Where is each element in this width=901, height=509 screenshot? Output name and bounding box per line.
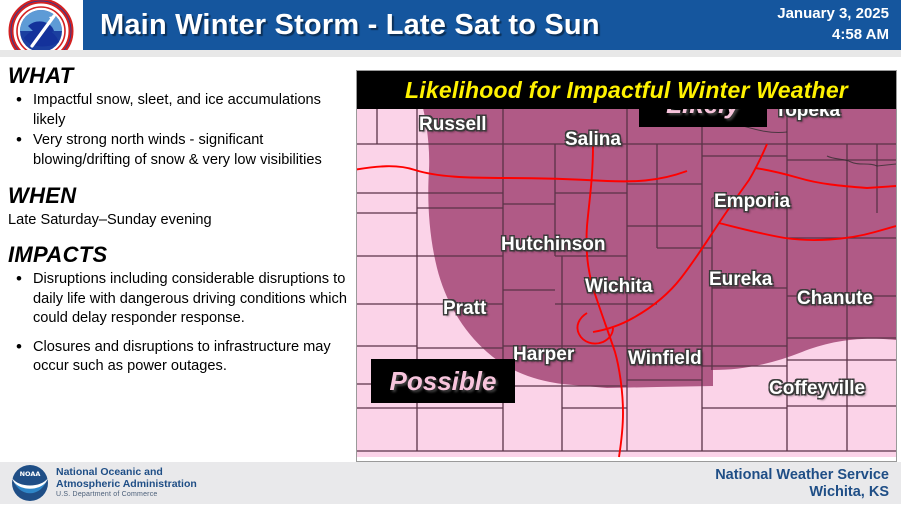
timestamp: January 3, 2025 4:58 AM: [639, 3, 889, 45]
when-text: Late Saturday–Sunday evening: [8, 211, 352, 230]
list-item: Very strong north winds - significant bl…: [0, 131, 352, 170]
when-heading: WHEN: [8, 183, 352, 209]
header: Main Winter Storm - Late Sat to Sun Janu…: [0, 0, 901, 57]
list-item: Disruptions including considerable disru…: [0, 270, 352, 329]
info-panel: WHAT Impactful snow, sleet, and ice accu…: [0, 57, 352, 462]
forecast-map[interactable]: Likelihood for Impactful Winter Weather: [356, 70, 897, 462]
page-title: Main Winter Storm - Late Sat to Sun: [100, 5, 700, 47]
noaa-line-1: National Oceanic and: [56, 466, 197, 478]
map-geometry: [357, 108, 896, 462]
nws-office-name: National Weather Service: [715, 467, 889, 484]
header-divider: [0, 50, 901, 57]
list-item: Closures and disruptions to infrastructu…: [0, 338, 352, 377]
issue-date: January 3, 2025: [639, 3, 889, 24]
noaa-agency-name: National Oceanic and Atmospheric Adminis…: [56, 466, 197, 490]
footer: NOAA National Oceanic and Atmospheric Ad…: [0, 462, 901, 504]
impacts-list: Disruptions including considerable disru…: [0, 270, 352, 377]
map-canvas: [357, 108, 896, 462]
impacts-heading: IMPACTS: [8, 242, 352, 268]
legend-possible: Possible: [371, 359, 515, 403]
noaa-department: U.S. Department of Commerce: [56, 491, 158, 499]
what-list: Impactful snow, sleet, and ice accumulat…: [0, 91, 352, 170]
nws-office-city: Wichita, KS: [715, 484, 889, 501]
noaa-logo-icon: NOAA: [8, 464, 52, 504]
map-title: Likelihood for Impactful Winter Weather: [357, 71, 896, 109]
list-item: Impactful snow, sleet, and ice accumulat…: [0, 91, 352, 130]
nws-office: National Weather Service Wichita, KS: [715, 467, 889, 501]
noaa-line-2: Atmospheric Administration: [56, 478, 197, 490]
weather-graphic: Main Winter Storm - Late Sat to Sun Janu…: [0, 0, 901, 504]
issue-time: 4:58 AM: [639, 24, 889, 45]
what-heading: WHAT: [8, 63, 352, 89]
svg-text:NOAA: NOAA: [20, 470, 41, 478]
